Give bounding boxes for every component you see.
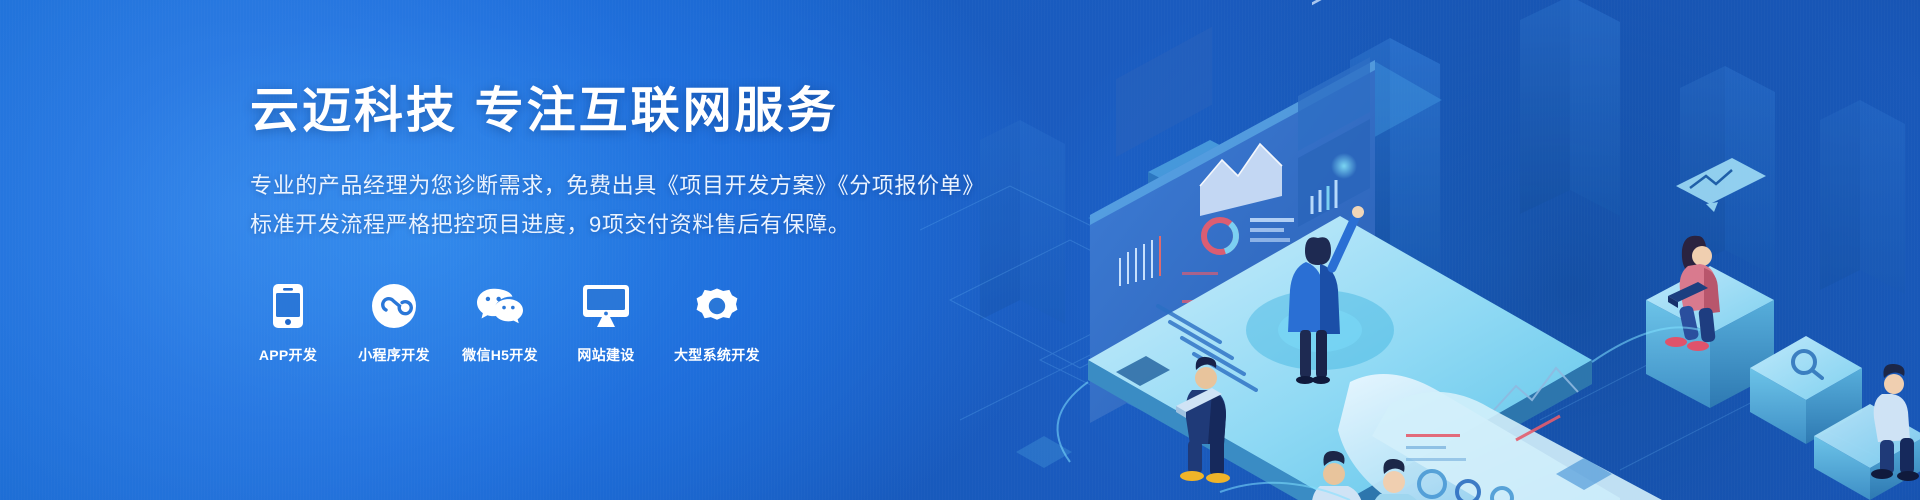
service-label: APP开发 (259, 345, 317, 365)
service-label: 小程序开发 (358, 345, 430, 365)
service-label: 大型系统开发 (674, 345, 760, 365)
service-label: 微信H5开发 (462, 345, 538, 365)
mini-program-icon (371, 283, 417, 329)
wechat-icon (477, 283, 523, 329)
subtitle-line-1: 专业的产品经理为您诊断需求，免费出具《项目开发方案》《分项报价单》 (250, 168, 1080, 204)
service-item-wechat-h5[interactable]: 微信H5开发 (462, 283, 538, 365)
service-item-app[interactable]: APP开发 (250, 283, 326, 365)
mobile-phone-icon (265, 283, 311, 329)
service-item-system[interactable]: 大型系统开发 (674, 283, 760, 365)
subtitle-line-2: 标准开发流程严格把控项目进度，9项交付资料售后有保障。 (250, 207, 1080, 243)
banner-content: 云迈科技 专注互联网服务 专业的产品经理为您诊断需求，免费出具《项目开发方案》《… (250, 84, 1080, 365)
monitor-icon (583, 283, 629, 329)
hero-banner: 云迈科技 专注互联网服务 专业的产品经理为您诊断需求，免费出具《项目开发方案》《… (0, 0, 1920, 500)
page-title: 云迈科技 专注互联网服务 (250, 84, 1080, 140)
gear-icon (694, 283, 740, 329)
service-item-website[interactable]: 网站建设 (568, 283, 644, 365)
service-label: 网站建设 (577, 345, 634, 365)
service-list: APP开发 小程序开发 (250, 283, 1080, 365)
service-item-mini-program[interactable]: 小程序开发 (356, 283, 432, 365)
